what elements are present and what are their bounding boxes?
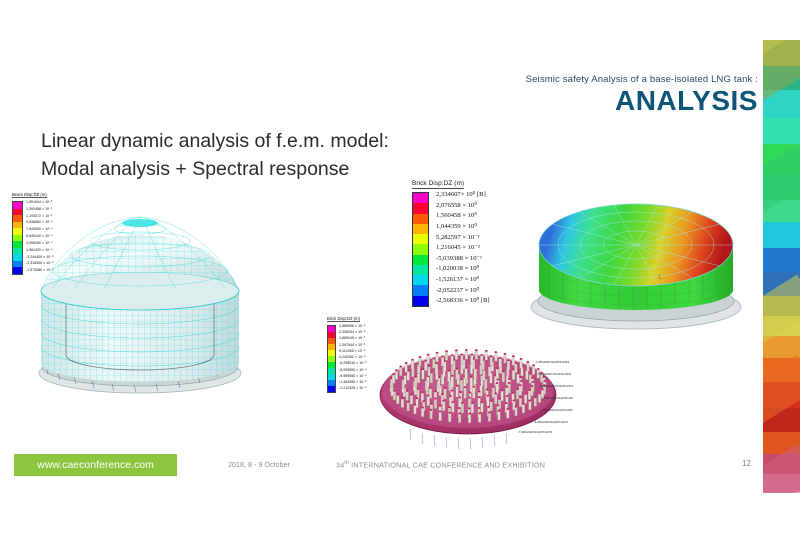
page-number: 12 (742, 459, 751, 468)
website-label: www.caeconference.com (14, 454, 177, 476)
slide-header: Seismic safety Analysis of a base-isolat… (526, 74, 758, 115)
legend-value: -2,052237 × 10⁰ (436, 288, 490, 295)
decorative-color-strip (763, 40, 800, 493)
footer-conference-text: INTERNATIONAL CAE CONFERENCE AND EXHIBIT… (349, 460, 545, 469)
legend-value: 1,044359 × 10⁰ (436, 224, 490, 231)
footer-conference: 34th INTERNATIONAL CAE CONFERENCE AND EX… (336, 460, 545, 469)
svg-text:-1,070\u00d710\u207b\u2074: -1,070\u00d710\u207b\u2074 (540, 408, 573, 412)
svg-text:1,285\u00d710\u207b\u00b3: 1,285\u00d710\u207b\u00b3 (536, 360, 570, 364)
svg-text:L: L (659, 275, 662, 281)
legend-value: 5,282597 × 10⁻¹ (436, 235, 490, 242)
isolator-base-plan-model: 1,285\u00d710\u207b\u00b3 9,640\u00d710\… (368, 333, 573, 455)
legend-brick-disp-small: Brick Disp:DZ (m) 2,885056 × 10⁻³ 2,3390… (327, 307, 367, 393)
legend-value: -5,099553 × 10⁻⁴ (339, 369, 367, 373)
legend-value: -2,568336 × 10⁰ [B] (436, 298, 490, 305)
legend-value: 1,397044 × 10⁻³ (339, 344, 367, 348)
header-subtitle: Seismic safety Analysis of a base-isolat… (526, 74, 758, 85)
legend-value: 1,560458 × 10⁰ (436, 213, 490, 220)
footer-date: 2018, 8 - 9 October (228, 460, 290, 469)
legend-value: -2,212325 × 10⁻³ (339, 387, 367, 391)
legend-brick-disp-small-colorbar (327, 325, 336, 393)
svg-text:-7,490\u00d710\u207b\u2074: -7,490\u00d710\u207b\u2074 (518, 430, 553, 434)
heading-line-2: Modal analysis + Spectral response (41, 156, 389, 184)
legend-value: 2,885056 × 10⁻³ (339, 325, 367, 329)
legend-beam-disp-colorbar (12, 201, 23, 275)
fem-mesh-tank-model (30, 195, 290, 395)
legend-brick-disp-dz-title: Brick Disp:DZ (m) (412, 180, 464, 189)
heading-line-1: Linear dynamic analysis of f.e.m. model: (41, 128, 389, 156)
legend-value: -5,039388 × 10⁻¹ (436, 256, 490, 263)
legend-value: 9,110355 × 10⁻⁴ (339, 350, 367, 354)
legend-brick-disp-dz-values: 2,334607× 10⁰ [B] 2,076558 × 10⁰ 1,56045… (436, 192, 490, 305)
legend-brick-disp-small-title: Brick Disp:DZ (m) (327, 316, 360, 322)
svg-text:6,420\u00d710\u207b\u2074: 6,420\u00d710\u207b\u2074 (540, 384, 573, 388)
legend-value: 1,885045 × 10⁻³ (339, 337, 367, 341)
legend-value: -9,969550 × 10⁻⁴ (339, 375, 367, 379)
legend-value: -1,526137 × 10⁰ (436, 277, 490, 284)
legend-value: 2,076558 × 10⁰ (436, 203, 490, 210)
legend-brick-disp-dz-colorbar (412, 192, 429, 307)
legend-value: 4,240352 × 10⁻⁴ (339, 356, 367, 360)
slide-canvas: Seismic safety Analysis of a base-isolat… (0, 0, 800, 533)
legend-value: -6,295510 × 10⁻⁵ (339, 362, 367, 366)
legend-value: 2,334607× 10⁰ [B] (436, 192, 490, 199)
legend-value: 1,216045 × 10⁻² (436, 245, 490, 252)
website-badge[interactable]: www.caeconference.com (14, 454, 177, 476)
page-title: Linear dynamic analysis of f.e.m. model:… (41, 128, 389, 183)
legend-brick-disp-dz: Brick Disp:DZ (m) 2,334607× 10⁰ [B] 2,07… (412, 172, 490, 307)
header-title: ANALYSIS (526, 87, 758, 115)
legend-value: 2,339034 × 10⁻³ (339, 331, 367, 335)
svg-text:9,640\u00d710\u207b\u2074: 9,640\u00d710\u207b\u2074 (538, 372, 572, 376)
svg-text:3,210\u00d710\u207b\u2074: 3,210\u00d710\u207b\u2074 (542, 396, 573, 400)
legend-value: -1,483955 × 10⁻³ (339, 381, 367, 385)
legend-brick-disp-small-values: 2,885056 × 10⁻³ 2,339034 × 10⁻³ 1,885045… (339, 325, 367, 391)
svg-text:-4,280\u00d710\u207b\u2074: -4,280\u00d710\u207b\u2074 (534, 420, 569, 424)
legend-value: -1,020038 × 10⁰ (436, 266, 490, 273)
contour-displacement-tank-model: L (518, 168, 758, 333)
